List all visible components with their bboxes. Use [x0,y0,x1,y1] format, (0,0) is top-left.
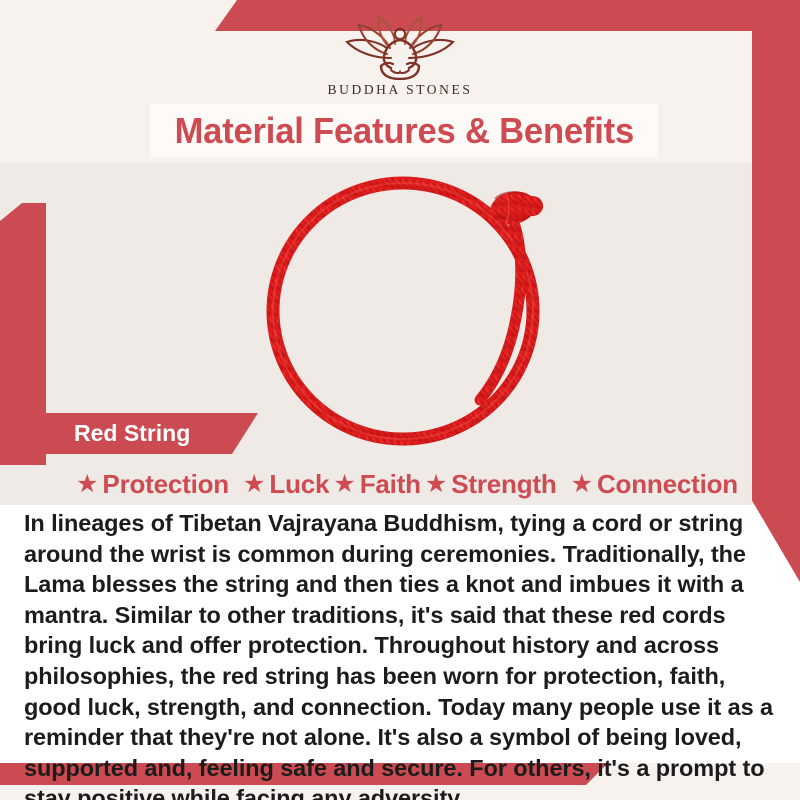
page-title: Material Features & Benefits [174,110,633,152]
benefit-label: Strength [451,469,556,500]
benefit-item-faith: ★ Faith [333,469,421,500]
brand-wordmark: BUDDHA STONES [328,82,473,98]
benefit-item-luck: ★ Luck [243,469,329,500]
section-banner-red-string: Red String [22,413,258,454]
star-icon: ★ [425,472,447,497]
benefit-label: Connection [597,469,738,500]
benefit-item-connection: ★ Connection [571,469,738,500]
benefit-label: Protection [102,469,229,500]
product-image-red-string-bracelet [248,168,588,448]
benefit-item-strength: ★ Strength [425,469,557,500]
star-icon: ★ [571,472,593,497]
benefit-label: Luck [269,469,329,500]
star-icon: ★ [333,472,355,497]
star-icon: ★ [243,472,265,497]
description-paragraph: In lineages of Tibetan Vajrayana Buddhis… [24,508,776,800]
brand-logo: BUDDHA STONES [0,14,800,98]
star-icon: ★ [76,472,98,497]
section-banner-label: Red String [74,420,190,447]
benefit-item-protection: ★ Protection [76,469,229,500]
benefit-label: Faith [360,469,421,500]
infographic-poster: BUDDHA STONES Material Features & Benefi… [0,0,800,800]
lotus-meditation-icon [329,14,471,80]
benefits-list: ★ Protection ★ Luck ★ Faith ★ Strength ★… [46,466,768,502]
page-title-band: Material Features & Benefits [150,104,658,158]
